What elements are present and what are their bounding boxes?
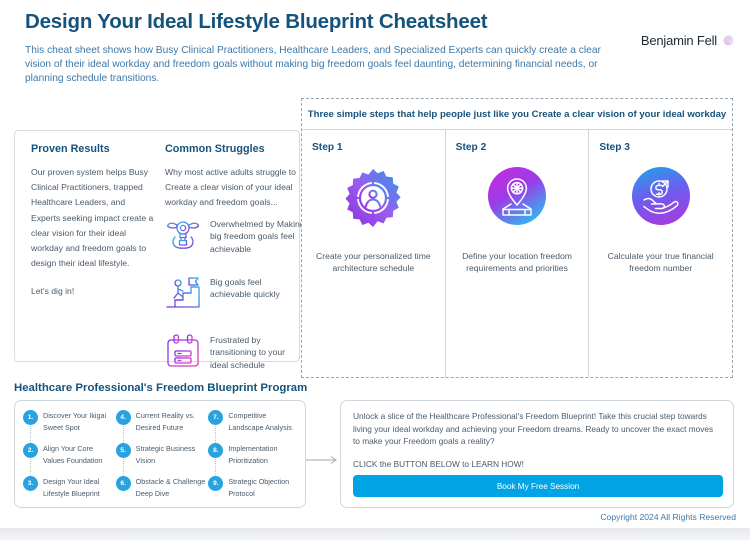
page-bottom-band xyxy=(0,528,750,540)
list-item-label: Align Your Core Values Foundation xyxy=(43,442,116,472)
program-column-3: 7. Competitive Landscape Analysis 8. Imp… xyxy=(208,409,301,499)
list-item-label: Implementation Prioritization xyxy=(228,442,301,472)
item-number: 7. xyxy=(208,410,223,425)
cheatsheet-page: Design Your Ideal Lifestyle Blueprint Ch… xyxy=(0,0,750,528)
brand-name: Benjamin Fell xyxy=(641,33,717,48)
arrow-right-icon xyxy=(306,455,340,465)
stairs-flag-icon xyxy=(163,273,203,313)
list-item: Frustrated by transitioning to your idea… xyxy=(163,331,305,375)
location-pin-globe-icon xyxy=(487,166,547,226)
angel-idea-icon xyxy=(163,215,203,255)
list-item-label: Discover Your Ikigai Sweet Spot xyxy=(43,409,116,439)
steps-row: Step 1 Create your xyxy=(302,130,732,377)
gear-person-target-icon xyxy=(341,166,405,230)
common-struggles-list: Overwhelmed by Making big freedom goals … xyxy=(163,215,305,389)
list-item: Overwhelmed by Making big freedom goals … xyxy=(163,215,305,259)
page-title: Design Your Ideal Lifestyle Blueprint Ch… xyxy=(25,10,625,34)
program-heading: Healthcare Professional's Freedom Bluepr… xyxy=(14,382,307,394)
step-label: Step 2 xyxy=(456,142,579,153)
list-item: Big goals feel achievable quickly xyxy=(163,273,305,317)
step-caption: Calculate your true financial freedom nu… xyxy=(599,250,722,275)
connector-line xyxy=(30,459,31,476)
list-item: 1. Discover Your Ikigai Sweet Spot xyxy=(23,409,116,439)
proven-results-paragraph-2: Let's dig in! xyxy=(31,284,155,299)
list-item: 8. Implementation Prioritization xyxy=(208,442,301,472)
program-column-1: 1. Discover Your Ikigai Sweet Spot 2. Al… xyxy=(23,409,116,499)
item-number: 1. xyxy=(23,410,38,425)
book-free-session-button[interactable]: Book My Free Session xyxy=(353,475,723,497)
hand-money-growth-icon xyxy=(631,166,691,226)
brand-logo: Benjamin Fell xyxy=(641,33,736,48)
step-label: Step 1 xyxy=(312,142,435,153)
step-icon-wrap xyxy=(302,166,445,230)
calendar-icon xyxy=(163,331,203,371)
list-item-label: Competitive Landscape Analysis xyxy=(228,409,301,439)
list-item: 4. Current Reality vs. Desired Future xyxy=(116,409,209,439)
step-icon-wrap xyxy=(589,166,732,226)
list-item-label: Current Reality vs. Desired Future xyxy=(136,409,209,439)
item-number: 2. xyxy=(23,443,38,458)
connector-line xyxy=(123,459,124,476)
item-number: 6. xyxy=(116,476,131,491)
step-2: Step 2 Def xyxy=(445,130,589,377)
list-item: 7. Competitive Landscape Analysis xyxy=(208,409,301,439)
step-caption: Define your location freedom requirement… xyxy=(456,250,579,275)
copyright-text: Copyright 2024 All Rights Reserved xyxy=(600,512,736,522)
common-struggles-heading: Common Struggles xyxy=(165,143,265,155)
list-item: 3. Design Your Ideal Lifestyle Blueprint xyxy=(23,475,116,505)
list-item-label: Strategic Business Vision xyxy=(136,442,209,472)
list-item: 5. Strategic Business Vision xyxy=(116,442,209,472)
list-item-label: Frustrated by transitioning to your idea… xyxy=(210,331,305,371)
list-item: 2. Align Your Core Values Foundation xyxy=(23,442,116,472)
cta-click-line: CLICK the BUTTON BELOW to LEARN HOW! xyxy=(353,458,721,471)
list-item-label: Strategic Objection Protocol xyxy=(228,475,301,505)
proven-results-heading: Proven Results xyxy=(31,143,110,155)
list-item-label: Obstacle & Challenge Deep Dive xyxy=(136,475,209,505)
three-steps-panel: Three simple steps that help people just… xyxy=(301,98,733,378)
step-icon-wrap xyxy=(446,166,589,226)
item-number: 5. xyxy=(116,443,131,458)
common-struggles-intro: Why most active adults struggle to Creat… xyxy=(165,165,305,211)
left-info-card: Proven Results Our proven system helps B… xyxy=(14,130,300,362)
connector-line xyxy=(123,426,124,443)
item-number: 8. xyxy=(208,443,223,458)
page-subtitle: This cheat sheet shows how Busy Clinical… xyxy=(25,44,605,87)
step-3: Step 3 xyxy=(588,130,732,377)
list-item-label: Design Your Ideal Lifestyle Blueprint xyxy=(43,475,116,505)
item-number: 9. xyxy=(208,476,223,491)
step-caption: Create your personalized time architectu… xyxy=(312,250,435,275)
list-item: 6. Obstacle & Challenge Deep Dive xyxy=(116,475,209,505)
item-number: 3. xyxy=(23,476,38,491)
program-column-2: 4. Current Reality vs. Desired Future 5.… xyxy=(116,409,209,499)
step-label: Step 3 xyxy=(599,142,722,153)
steps-banner: Three simple steps that help people just… xyxy=(302,99,732,130)
list-item-label: Overwhelmed by Making big freedom goals … xyxy=(210,215,305,255)
step-1: Step 1 Create your xyxy=(302,130,445,377)
connector-line xyxy=(215,426,216,443)
cta-card: Unlock a slice of the Healthcare Profess… xyxy=(340,400,734,508)
connector-line xyxy=(30,426,31,443)
gradient-ring-icon xyxy=(721,33,736,48)
list-item-label: Big goals feel achievable quickly xyxy=(210,273,305,301)
program-card: 1. Discover Your Ikigai Sweet Spot 2. Al… xyxy=(14,400,306,508)
item-number: 4. xyxy=(116,410,131,425)
connector-line xyxy=(215,459,216,476)
proven-results-body: Our proven system helps Busy Clinical Pr… xyxy=(31,165,155,300)
list-item: 9. Strategic Objection Protocol xyxy=(208,475,301,505)
cta-paragraph: Unlock a slice of the Healthcare Profess… xyxy=(353,410,721,448)
proven-results-paragraph-1: Our proven system helps Busy Clinical Pr… xyxy=(31,165,155,271)
